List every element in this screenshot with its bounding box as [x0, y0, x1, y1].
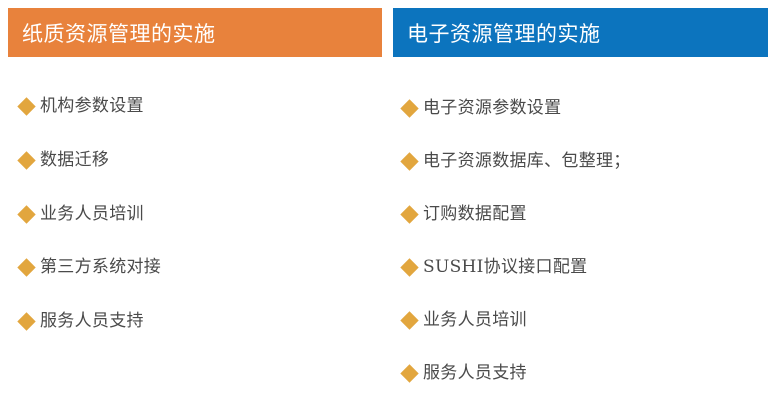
electronic-resource-header-bar: 电子资源管理的实施	[393, 8, 768, 57]
list-item: 业务人员培训	[403, 310, 527, 330]
diamond-icon	[400, 258, 418, 276]
list-item-label: 业务人员培训	[40, 204, 144, 224]
list-item-label: 订购数据配置	[423, 204, 527, 224]
list-item: 电子资源参数设置	[403, 98, 561, 118]
list-item-label: SUSHI协议接口配置	[423, 257, 587, 277]
list-item-label: 服务人员支持	[423, 363, 527, 383]
list-item: 电子资源数据库、包整理；	[403, 151, 631, 171]
diamond-icon	[17, 205, 35, 223]
list-item: 业务人员培训	[20, 204, 144, 224]
list-item-label: 电子资源参数设置	[423, 98, 561, 118]
list-item: SUSHI协议接口配置	[403, 257, 587, 277]
diamond-icon	[400, 152, 418, 170]
diamond-icon	[17, 151, 35, 169]
paper-resource-header-bar: 纸质资源管理的实施	[8, 8, 382, 57]
list-item: 机构参数设置	[20, 96, 144, 116]
electronic-resource-header-title: 电子资源管理的实施	[393, 18, 601, 48]
diamond-icon	[400, 311, 418, 329]
list-item-label: 数据迁移	[40, 150, 109, 170]
column-paper-resource-management: 纸质资源管理的实施 机构参数设置 数据迁移 业务人员培训 第三方系统对接 服务人…	[0, 0, 388, 404]
paper-resource-header-title: 纸质资源管理的实施	[8, 18, 216, 48]
list-item: 数据迁移	[20, 150, 109, 170]
list-item: 服务人员支持	[403, 363, 527, 383]
list-item: 服务人员支持	[20, 311, 144, 331]
list-item-label: 电子资源数据库、包整理；	[423, 151, 631, 171]
list-item-label: 业务人员培训	[423, 310, 527, 330]
diamond-icon	[400, 99, 418, 117]
diamond-icon	[17, 97, 35, 115]
list-item: 订购数据配置	[403, 204, 527, 224]
list-item-label: 机构参数设置	[40, 96, 144, 116]
list-item-label: 服务人员支持	[40, 311, 144, 331]
slide-canvas: 纸质资源管理的实施 机构参数设置 数据迁移 业务人员培训 第三方系统对接 服务人…	[0, 0, 776, 404]
column-electronic-resource-management: 电子资源管理的实施 电子资源参数设置 电子资源数据库、包整理； 订购数据配置 S…	[388, 0, 776, 404]
diamond-icon	[400, 205, 418, 223]
list-item: 第三方系统对接	[20, 257, 161, 277]
diamond-icon	[400, 364, 418, 382]
list-item-label: 第三方系统对接	[40, 257, 161, 277]
diamond-icon	[17, 258, 35, 276]
diamond-icon	[17, 312, 35, 330]
